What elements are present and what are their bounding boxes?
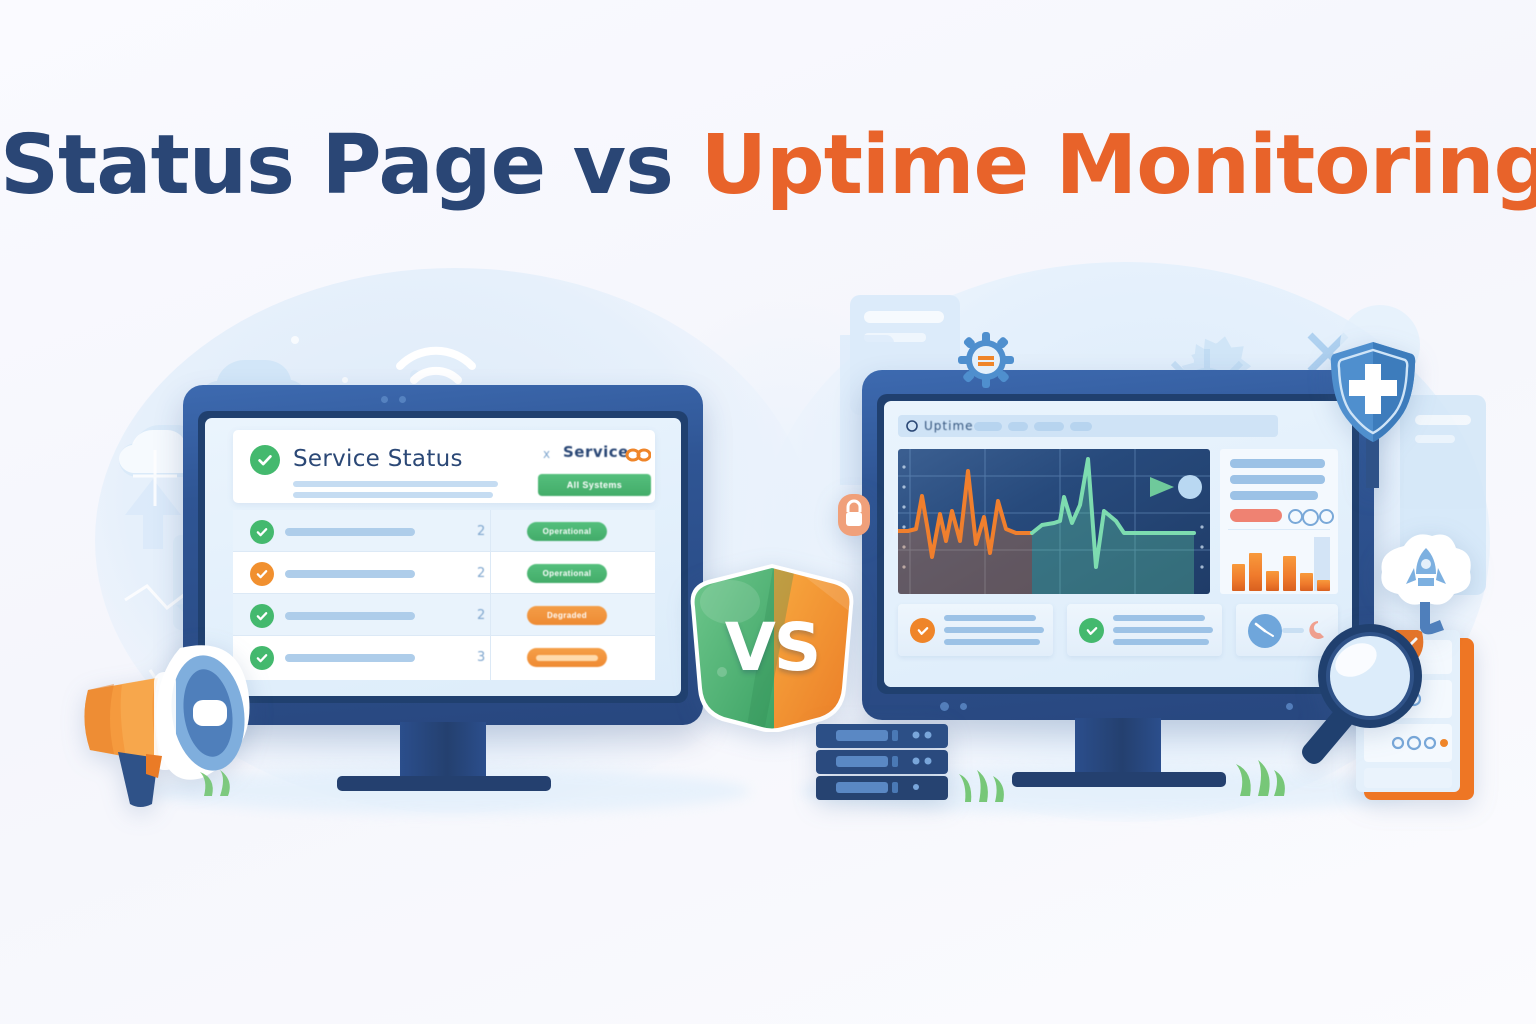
row-label-skeleton <box>285 612 415 620</box>
row-count: 2 <box>477 524 486 539</box>
status-ring-icon <box>1288 509 1303 524</box>
cloud-pole <box>1420 602 1444 634</box>
check-circle-icon <box>250 646 274 670</box>
card-text-line <box>1113 639 1209 645</box>
clipboard-clip-check <box>1402 639 1416 648</box>
clipboard-backplate <box>1364 638 1474 800</box>
check-circle-icon <box>250 604 274 628</box>
chart-svg <box>898 449 1210 594</box>
bar-item <box>1317 580 1330 591</box>
check-circle-icon <box>250 445 280 475</box>
sidebar-text-line <box>1230 475 1325 484</box>
server-unit <box>816 750 948 774</box>
right-monitor-led <box>940 702 949 711</box>
right-monitor-screen: Uptime <box>884 401 1352 687</box>
chart-series-green-fill <box>1032 459 1194 594</box>
response-time-chart <box>898 449 1210 594</box>
check-circle-icon <box>250 520 274 544</box>
row-label-skeleton <box>285 570 415 578</box>
topbar-label: Uptime <box>924 419 974 433</box>
sidebar-text-line <box>1230 459 1325 468</box>
brand-mark-x: x <box>543 447 551 461</box>
vs-badge: VS <box>686 562 858 732</box>
page-title: Status Page vs Uptime Monitoring <box>0 118 1536 213</box>
cloud-rocket-icon <box>1370 528 1480 636</box>
card-text-line <box>1113 615 1205 621</box>
right-monitor-led-3 <box>1286 703 1293 710</box>
sidebar-divider <box>1228 529 1330 530</box>
status-card[interactable] <box>1067 604 1222 656</box>
column-divider <box>490 510 491 680</box>
check-circle-icon <box>910 618 935 643</box>
service-status-header-card: Service Status x Service All Systems <box>233 430 655 503</box>
clipboard-row <box>1364 640 1452 674</box>
left-monitor-screen: Service Status x Service All Systems <box>205 418 681 696</box>
bar-item <box>1283 556 1296 591</box>
megaphone-collar <box>154 672 176 770</box>
gauge-connector <box>1282 628 1304 633</box>
row-label-skeleton <box>285 528 415 536</box>
lock-shackle <box>848 501 860 512</box>
card-text-line <box>944 615 1036 621</box>
status-ring-icon <box>1319 509 1334 524</box>
gear-center-mark <box>978 356 994 366</box>
row-divider <box>233 551 655 552</box>
clipboard-row <box>1364 724 1452 762</box>
shield-body-dark <box>1373 342 1415 442</box>
vs-badge-label: VS <box>686 562 858 732</box>
status-badge: Operational <box>527 564 607 583</box>
card-text-line <box>944 639 1040 645</box>
topbar-skeleton <box>1034 422 1064 431</box>
play-triangle-icon <box>1150 477 1174 497</box>
check-circle-icon <box>250 562 274 586</box>
topbar-skeleton <box>1008 422 1028 431</box>
marker-circle-icon <box>1178 475 1202 499</box>
status-page-monitor: Service Status x Service All Systems <box>183 385 703 725</box>
clipboard-ring-icons <box>1393 693 1435 749</box>
bar-item <box>1232 564 1245 591</box>
status-badge: Degraded <box>527 606 607 625</box>
topbar-skeleton <box>1070 422 1092 431</box>
megaphone-handle <box>118 752 158 807</box>
cloud-shape <box>1381 534 1470 604</box>
clipboard-row <box>1364 680 1452 718</box>
row-divider <box>233 635 655 636</box>
megaphone-body-shade <box>84 684 114 754</box>
clipboard-clip-icon <box>1392 630 1424 666</box>
row-divider <box>233 593 655 594</box>
megaphone-body <box>84 678 160 763</box>
card-text-line <box>1113 627 1213 633</box>
gauge-icon <box>1246 612 1284 650</box>
phone-icon <box>1302 617 1328 643</box>
status-badge: Operational <box>527 522 607 541</box>
rocket-icon <box>1406 548 1446 586</box>
left-monitor-led <box>381 396 388 403</box>
gauge-card[interactable] <box>1236 604 1338 656</box>
right-monitor-neck <box>1075 718 1161 776</box>
lock-body <box>846 512 862 526</box>
user-avatar-icon <box>1378 534 1446 586</box>
brand-text: Service <box>563 443 629 461</box>
right-monitor-base <box>1012 772 1226 787</box>
brand-loop-icon <box>625 448 651 462</box>
status-card[interactable] <box>898 604 1053 656</box>
left-monitor-led-2 <box>399 396 406 403</box>
topbar-skeleton <box>974 422 1002 431</box>
header-skeleton-line-1 <box>293 481 498 487</box>
uptime-monitoring-monitor: Uptime <box>862 370 1374 720</box>
sidebar-bar-chart <box>1228 535 1332 591</box>
alert-pill <box>1230 509 1282 522</box>
dashboard-sidebar-panel <box>1220 449 1338 594</box>
all-systems-button[interactable]: All Systems <box>538 474 651 496</box>
left-monitor-neck <box>400 722 486 780</box>
header-skeleton-line-2 <box>293 492 493 498</box>
bar-item <box>1300 573 1313 591</box>
card-text-line <box>944 627 1044 633</box>
right-monitor-led-2 <box>960 703 967 710</box>
status-ring-icon <box>1302 509 1319 526</box>
title-left-part: Status Page <box>0 118 573 213</box>
service-status-heading: Service Status <box>293 446 463 472</box>
clipboard-alert-dot <box>1440 739 1448 747</box>
illustration-canvas: Status Page vs Uptime Monitoring <box>0 0 1536 1024</box>
bar-item <box>1266 571 1279 591</box>
row-count: 2 <box>477 566 486 581</box>
sidebar-text-line <box>1230 491 1318 500</box>
row-label-skeleton <box>285 654 415 662</box>
megaphone-trigger <box>146 754 162 778</box>
megaphone-body-light <box>121 678 158 763</box>
row-count: 3 <box>477 650 486 665</box>
title-vs-part: vs <box>573 118 701 213</box>
row-count: 2 <box>477 608 486 623</box>
check-circle-icon <box>1079 618 1104 643</box>
left-monitor-base <box>337 776 551 791</box>
bar-item <box>1249 553 1262 591</box>
status-badge <box>527 648 607 667</box>
title-right-part: Uptime Monitoring <box>700 118 1536 213</box>
